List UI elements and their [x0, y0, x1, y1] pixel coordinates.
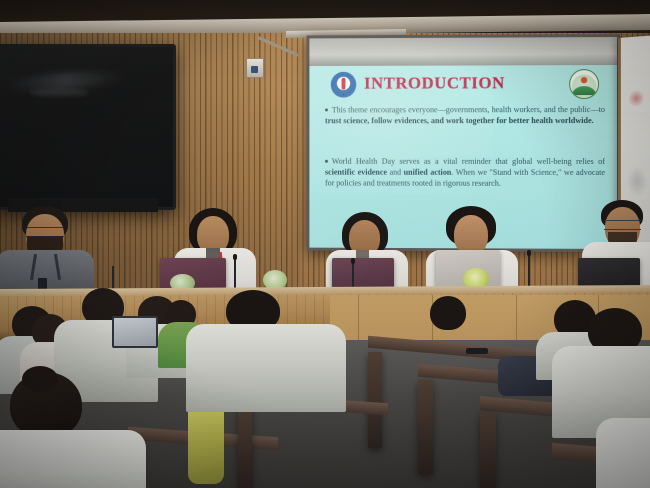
conference-hall-photo: ● INTRODUCTION This theme encourages eve…: [0, 0, 650, 488]
whiteboard-marking-secondary: [627, 166, 648, 197]
panelist-5-glasses: [604, 220, 641, 230]
screen-blank-band: [309, 37, 617, 66]
bullet-2-emphasis-2: unified action: [404, 168, 452, 177]
attendee-6-hair-bun: [22, 366, 58, 392]
whiteboard-marking: [629, 89, 645, 108]
audience-desk-left-2: [238, 406, 252, 488]
slide-bullet-1: This theme encourages everyone—governmen…: [325, 105, 605, 127]
microphone-3-head: [527, 250, 531, 256]
slide-title: INTRODUCTION: [364, 73, 505, 93]
attendee-6: [0, 372, 132, 488]
bullet-marker-icon: [325, 108, 328, 111]
microphone-3-stem: [528, 254, 530, 290]
attendee-7-body: [186, 324, 346, 412]
screen-glare-secondary: [29, 89, 89, 96]
green-emblem-logo-icon: [569, 69, 599, 99]
bullet-1-lead: This theme encourages everyone—governmen…: [332, 105, 605, 114]
panelist-4-head: [454, 215, 488, 255]
attendee-11: [422, 296, 474, 352]
attendee-10: [596, 412, 650, 488]
bullet-2-part1: World Health Day serves as a vital remin…: [332, 157, 605, 166]
attendee-7: [196, 296, 336, 406]
panelist-1: [2, 206, 90, 298]
audience-desk-row-3: [480, 412, 496, 488]
bullet-2-emphasis-1: scientific evidence: [325, 168, 387, 177]
attendee-6-body: [0, 430, 146, 488]
audience-desk-row-2: [418, 380, 433, 474]
tablet-device[interactable]: [112, 316, 158, 348]
panelist-1-glasses: [26, 227, 64, 237]
attendee-11-head: [430, 296, 466, 330]
attendee-9: [566, 308, 650, 428]
wall-sensor-device[interactable]: [246, 58, 264, 78]
sensor-led-icon: [251, 66, 258, 73]
attendee-10-body: [596, 418, 650, 488]
microphone-2-head: [351, 258, 355, 264]
bullet-1-emphasis: trust science, follow evidences, and wor…: [325, 116, 594, 125]
microphone-1-head: [233, 254, 237, 260]
institution-roundel-logo-icon: ●: [331, 72, 356, 98]
bullet-2-part2: and: [387, 168, 404, 177]
audience-desk-row-1: [368, 352, 382, 448]
slide-bullet-2: World Health Day serves as a vital remin…: [325, 157, 605, 190]
wall-display-monitor[interactable]: [0, 44, 176, 210]
bullet-marker-icon: [325, 159, 328, 162]
